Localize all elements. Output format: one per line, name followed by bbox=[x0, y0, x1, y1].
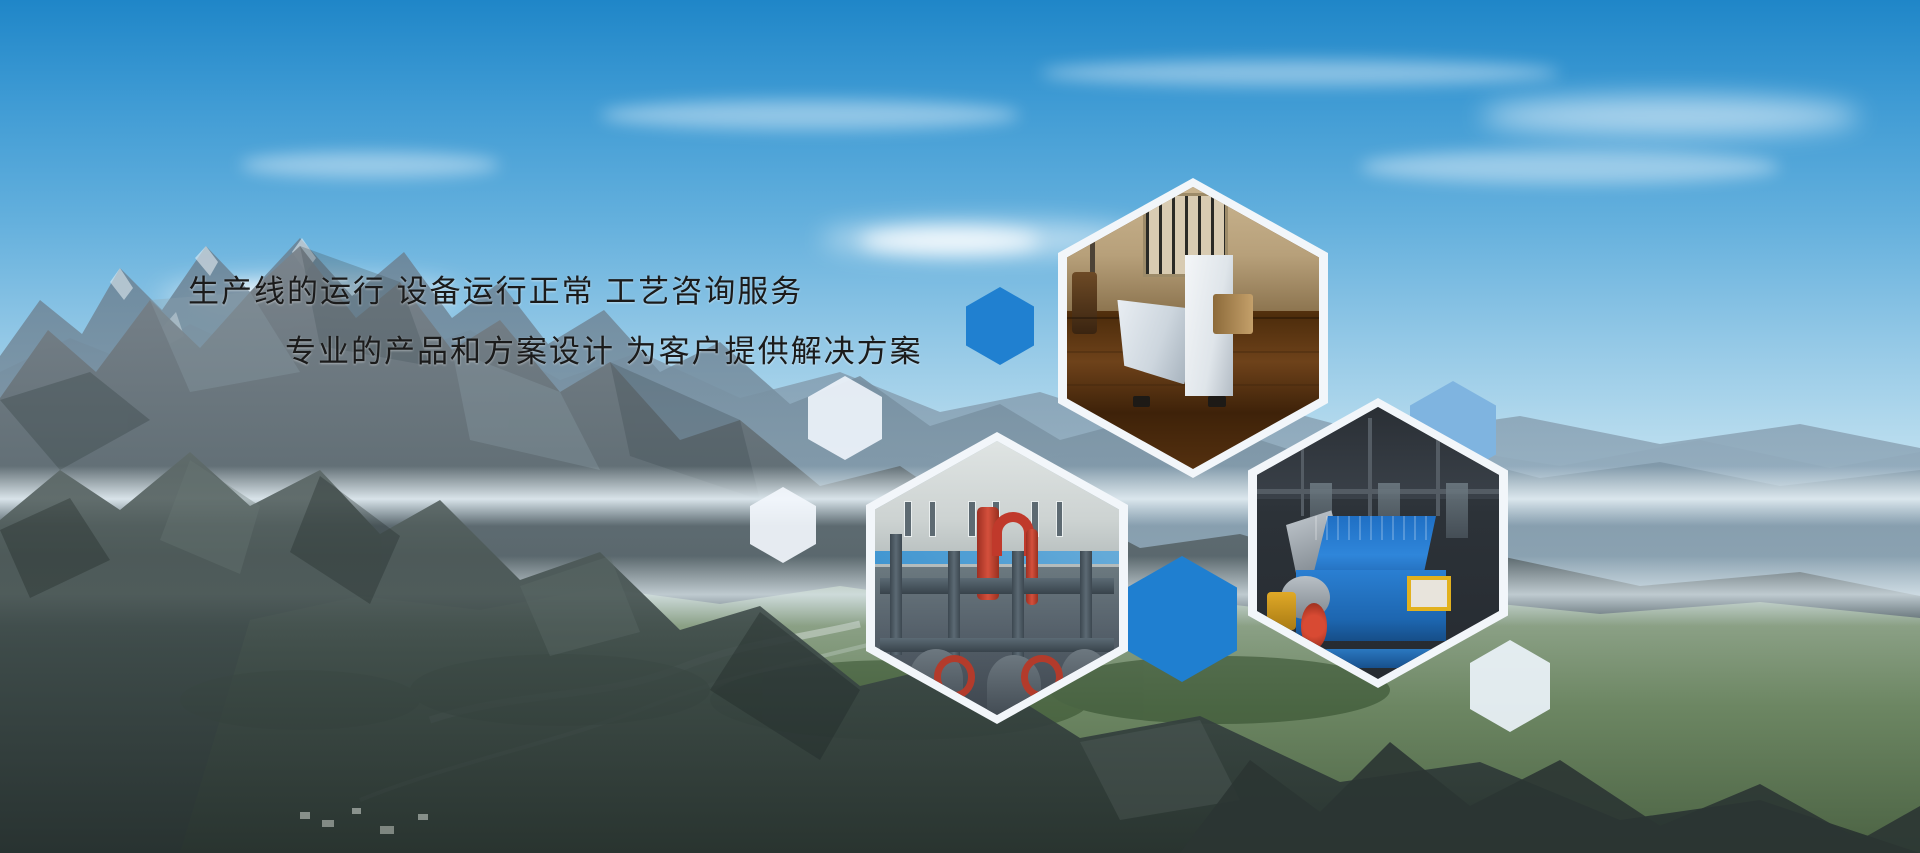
photo-hex-top-image bbox=[1067, 187, 1319, 469]
mountain-landscape bbox=[0, 0, 1920, 853]
banner-stage: 生产线的运行 设备运行正常 工艺咨询服务 专业的产品和方案设计 为客户提供解决方… bbox=[0, 0, 1920, 853]
headline-line-1: 生产线的运行 设备运行正常 工艺咨询服务 bbox=[0, 262, 1060, 322]
headline-line-2: 专业的产品和方案设计 为客户提供解决方案 bbox=[0, 322, 1060, 382]
headline-block: 生产线的运行 设备运行正常 工艺咨询服务 专业的产品和方案设计 为客户提供解决方… bbox=[0, 262, 1060, 382]
photo-hex-right-image bbox=[1257, 407, 1499, 679]
photo-hex-middle-image bbox=[875, 441, 1119, 715]
